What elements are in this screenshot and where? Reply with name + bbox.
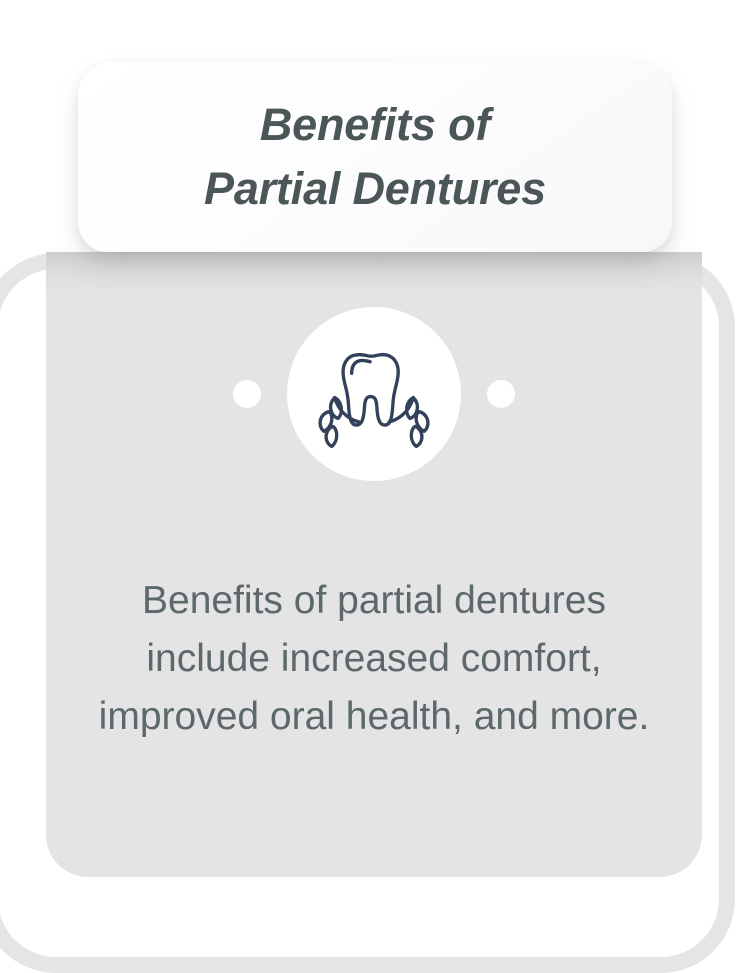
card-description: Benefits of partial dentures include inc… [86, 572, 662, 746]
page-title: Benefits of Partial Dentures [178, 93, 572, 221]
icon-badge [287, 307, 461, 481]
icon-cluster [46, 296, 702, 492]
header-card: Benefits of Partial Dentures [78, 62, 672, 252]
card-top-shadow [46, 252, 702, 298]
tooth-laurel-icon [315, 335, 433, 453]
page-root: Benefits of Partial Dentures [0, 0, 749, 930]
left-accent-dot-icon [233, 380, 261, 408]
right-accent-dot-icon [487, 380, 515, 408]
